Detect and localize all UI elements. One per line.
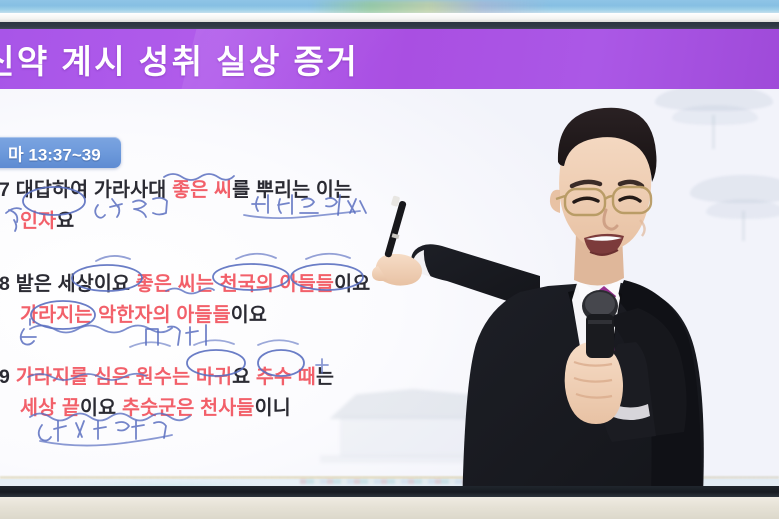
verse-segment-highlight: 인자: [20, 210, 56, 232]
room-wall-top: [0, 0, 779, 14]
verse-segment: 를 뿌리는 이는: [232, 179, 352, 201]
verse-segment: 는: [316, 366, 334, 388]
verse-segment-highlight: 좋은 씨: [172, 179, 232, 201]
verse-reference-label: 마 13:37~39: [8, 140, 101, 165]
verse-reference-badge: 마 13:37~39: [0, 137, 121, 168]
verse-segment-highlight: 추숫군은 천사들: [122, 397, 255, 419]
verse-segment: 37 대답하여 가라사대: [0, 179, 172, 201]
presenter-hand-with-pointer: [372, 195, 422, 285]
verse-segment-highlight: 가라지는 악한자의 아들들: [20, 304, 231, 326]
verse-segment-highlight: 좋은 씨는 천국의 아들들: [136, 273, 334, 295]
verse-segment-highlight: 가라지를 심은 원수는 마귀: [16, 366, 232, 388]
verse-segment: 요: [56, 210, 74, 232]
slide-title: 신약 계시 성취 실상 증거: [0, 35, 359, 83]
verse-segment-highlight: 세상 끝: [20, 397, 80, 419]
verse-segment-highlight: 추수 때: [256, 366, 316, 388]
verse-segment: 이요: [334, 273, 370, 295]
verse-segment: 요: [232, 366, 256, 388]
presenter-figure: [372, 58, 779, 519]
verse-segment: 39: [0, 366, 16, 388]
screenshot-stage: 신약 계시 성취 실상 증거 마 13:37~39 37 대답하여 가라사대 좋…: [0, 0, 779, 519]
desk-surface: [0, 497, 779, 519]
presenter-head: [550, 108, 657, 256]
wall-rainbow-decoration: [310, 0, 550, 14]
microphone-icon: [582, 290, 618, 358]
verse-segment: 이니: [255, 397, 291, 419]
verse-segment: 이요: [231, 304, 267, 326]
pointer-pen-icon: [384, 195, 407, 258]
screen-bezel-bottom: [0, 486, 779, 497]
verse-segment: 이요: [80, 397, 122, 419]
verse-segment: 38 밭은 세상이요: [0, 273, 136, 295]
